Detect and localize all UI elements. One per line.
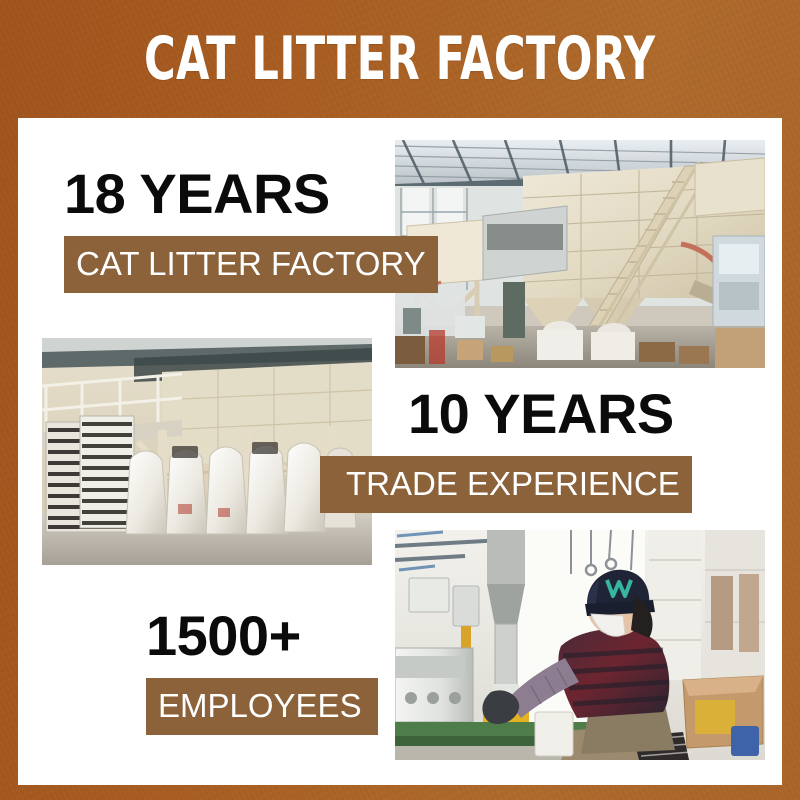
content-panel: 18 YEARS CAT LITTER FACTORY 10 YEARS TRA… bbox=[18, 118, 782, 785]
stat-label-years-trade: TRADE EXPERIENCE bbox=[320, 456, 692, 513]
stat-block-years-factory: 18 YEARS CAT LITTER FACTORY bbox=[64, 166, 438, 293]
stat-number-years-trade: 10 YEARS bbox=[320, 386, 692, 442]
page-title: CAT LITTER FACTORY bbox=[144, 29, 656, 89]
stat-block-employees: 1500+ EMPLOYEES bbox=[146, 608, 378, 735]
photo-bagging-operator bbox=[395, 530, 765, 760]
stat-label-years-factory: CAT LITTER FACTORY bbox=[64, 236, 438, 293]
stat-label-employees: EMPLOYEES bbox=[146, 678, 378, 735]
poster-root: CAT LITTER FACTORY bbox=[0, 0, 800, 800]
stat-number-years-factory: 18 YEARS bbox=[64, 166, 438, 222]
photo-factory-silos bbox=[395, 140, 765, 368]
stat-number-employees: 1500+ bbox=[146, 608, 378, 664]
stat-block-years-trade: 10 YEARS TRADE EXPERIENCE bbox=[320, 386, 692, 513]
poster-header: CAT LITTER FACTORY bbox=[0, 0, 800, 118]
